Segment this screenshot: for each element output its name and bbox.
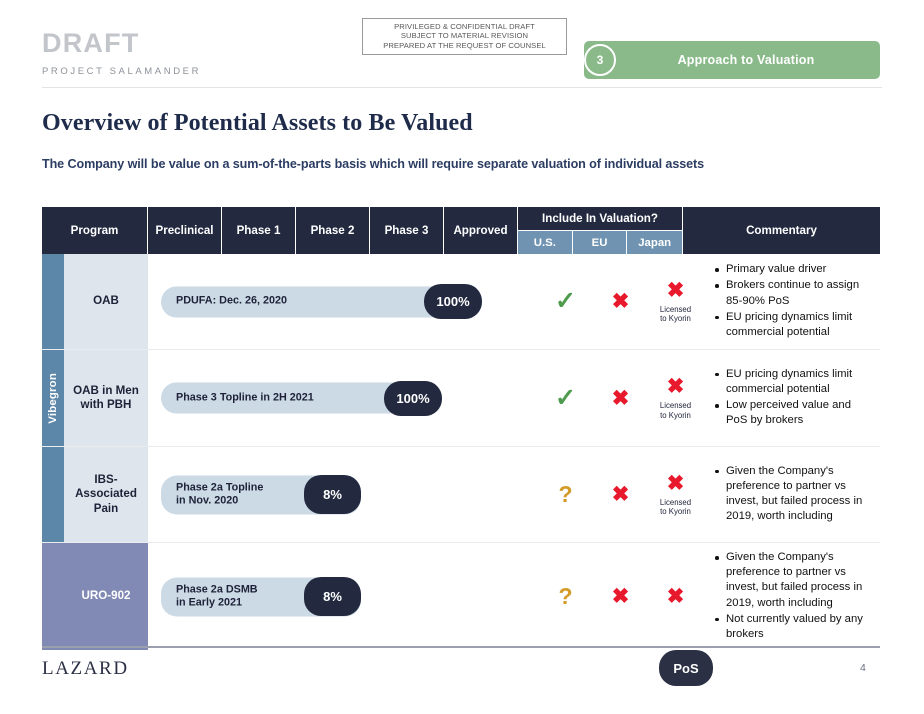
cell-program-name: OAB [64, 254, 148, 349]
page-subtitle: The Company will be value on a sum-of-th… [42, 157, 704, 171]
cell-program-name: URO-902 [64, 543, 148, 650]
page-header: DRAFT PROJECT SALAMANDER PRIVILEGED & CO… [0, 0, 924, 88]
header-divider [42, 87, 882, 88]
col-header-preclinical: Preclinical [148, 207, 222, 254]
row-rail [42, 543, 64, 650]
footer-divider [42, 646, 880, 648]
milestone-bar[interactable]: Phase 2a Topline in Nov. 2020 8% [161, 475, 361, 514]
milestone-bar[interactable]: PDUFA: Dec. 26, 2020 100% [161, 286, 482, 317]
col-header-us: U.S. [518, 231, 573, 254]
table-row[interactable]: OAB PDUFA: Dec. 26, 2020 100% ✓ ✖ ✖ Lice… [42, 254, 880, 350]
confidentiality-notice: PRIVILEGED & CONFIDENTIAL DRAFT SUBJECT … [362, 18, 567, 55]
legal-line-3: PREPARED AT THE REQUEST OF COUNSEL [365, 41, 564, 50]
col-header-include-group-label: Include In Valuation? [518, 207, 682, 231]
milestone-label: PDUFA: Dec. 26, 2020 [161, 295, 287, 308]
pos-legend-badge: PoS [659, 650, 713, 686]
milestone-bar[interactable]: Phase 3 Topline in 2H 2021 100% [161, 383, 442, 414]
cell-include-japan: ✖ Licensed to Kyorin [648, 350, 703, 446]
cross-icon: ✖ [667, 473, 685, 494]
col-header-phase2: Phase 2 [296, 207, 370, 254]
cross-icon: ✖ [667, 376, 685, 397]
col-header-commentary: Commentary [683, 207, 880, 254]
col-header-phase1: Phase 1 [222, 207, 296, 254]
col-header-program: Program [42, 207, 148, 254]
commentary-list: Primary value driver Brokers continue to… [713, 262, 868, 340]
list-item: EU pricing dynamics limit commercial pot… [713, 367, 868, 397]
table-header-row: Program Preclinical Phase 1 Phase 2 Phas… [42, 207, 880, 254]
commentary-list: Given the Company's preference to partne… [713, 550, 868, 642]
cross-icon: ✖ [612, 291, 630, 312]
cell-include-japan: ✖ Licensed to Kyorin [648, 254, 703, 349]
cell-program-name: OAB in Men with PBH [64, 350, 148, 446]
cell-program-name: IBS-Associated Pain [64, 447, 148, 542]
cell-include-eu: ✖ [593, 254, 648, 349]
cell-commentary: Given the Company's preference to partne… [703, 447, 880, 542]
row-rail [42, 447, 64, 542]
col-header-include-in-valuation: Include In Valuation? U.S. EU Japan [518, 207, 683, 254]
cell-include-eu: ✖ [593, 350, 648, 446]
col-header-eu: EU [573, 231, 628, 254]
draft-watermark: DRAFT [42, 28, 139, 59]
project-codename: PROJECT SALAMANDER [42, 66, 201, 77]
check-icon: ✓ [555, 386, 576, 411]
cross-icon: ✖ [667, 586, 685, 607]
commentary-list: EU pricing dynamics limit commercial pot… [713, 367, 868, 429]
cross-icon: ✖ [612, 484, 630, 505]
pos-pill: 100% [384, 381, 442, 416]
check-icon: ✓ [555, 289, 576, 314]
page-title: Overview of Potential Assets to Be Value… [42, 110, 473, 137]
milestone-bar[interactable]: Phase 2a DSMB in Early 2021 8% [161, 577, 361, 616]
commentary-list: Given the Company's preference to partne… [713, 464, 868, 525]
question-icon: ? [558, 483, 572, 506]
list-item: EU pricing dynamics limit commercial pot… [713, 310, 868, 340]
assets-table: Program Preclinical Phase 1 Phase 2 Phas… [42, 207, 880, 650]
pos-pill: 100% [424, 284, 482, 319]
section-number-badge: 3 [584, 44, 616, 76]
cell-commentary: Given the Company's preference to partne… [703, 543, 880, 650]
list-item: Low perceived value and PoS by brokers [713, 398, 868, 428]
milestone-label: Phase 3 Topline in 2H 2021 [161, 391, 314, 404]
page-number: 4 [860, 662, 866, 674]
cell-timeline: Phase 2a Topline in Nov. 2020 8% [148, 447, 538, 542]
list-item: Brokers continue to assign 85-90% PoS [713, 278, 868, 308]
table-row[interactable]: OAB in Men with PBH Phase 3 Topline in 2… [42, 350, 880, 447]
col-header-approved: Approved [444, 207, 518, 254]
legal-line-1: PRIVILEGED & CONFIDENTIAL DRAFT [365, 22, 564, 31]
cell-timeline: Phase 2a DSMB in Early 2021 8% [148, 543, 538, 650]
legal-line-2: SUBJECT TO MATERIAL REVISION [365, 31, 564, 40]
cell-include-us: ✓ [538, 350, 593, 446]
row-rail [42, 254, 64, 349]
col-header-japan: Japan [627, 231, 682, 254]
list-item: Given the Company's preference to partne… [713, 464, 868, 524]
table-body: Vibegron OAB PDUFA: Dec. 26, 2020 100% ✓… [42, 254, 880, 650]
cell-commentary: Primary value driver Brokers continue to… [703, 254, 880, 349]
col-header-phase3: Phase 3 [370, 207, 444, 254]
cross-icon: ✖ [667, 280, 685, 301]
row-rail [42, 350, 64, 446]
cell-timeline: PDUFA: Dec. 26, 2020 100% [148, 254, 538, 349]
cell-include-eu: ✖ [593, 447, 648, 542]
milestone-label: Phase 2a Topline in Nov. 2020 [161, 481, 263, 508]
section-title: Approach to Valuation [584, 41, 880, 79]
milestone-label: Phase 2a DSMB in Early 2021 [161, 583, 258, 610]
licensing-note: Licensed to Kyorin [660, 305, 691, 323]
cross-icon: ✖ [612, 388, 630, 409]
cross-icon: ✖ [612, 586, 630, 607]
pos-pill: 8% [304, 475, 361, 514]
list-item: Primary value driver [713, 262, 868, 277]
cell-commentary: EU pricing dynamics limit commercial pot… [703, 350, 880, 446]
section-banner: Approach to Valuation [584, 41, 880, 79]
cell-timeline: Phase 3 Topline in 2H 2021 100% [148, 350, 538, 446]
licensing-note: Licensed to Kyorin [660, 401, 691, 419]
cell-include-japan: ✖ Licensed to Kyorin [648, 447, 703, 542]
cell-include-us: ? [538, 543, 593, 650]
table-row[interactable]: IBS-Associated Pain Phase 2a Topline in … [42, 447, 880, 543]
cell-include-us: ? [538, 447, 593, 542]
list-item: Given the Company's preference to partne… [713, 550, 868, 610]
list-item: Not currently valued by any brokers [713, 612, 868, 642]
pos-pill: 8% [304, 577, 361, 616]
lazard-logo: LAZARD [42, 658, 129, 680]
question-icon: ? [558, 585, 572, 608]
cell-include-japan: ✖ [648, 543, 703, 650]
licensing-note: Licensed to Kyorin [660, 498, 691, 516]
cell-include-eu: ✖ [593, 543, 648, 650]
cell-include-us: ✓ [538, 254, 593, 349]
table-row[interactable]: URO-902 Phase 2a DSMB in Early 2021 8% ?… [42, 543, 880, 650]
